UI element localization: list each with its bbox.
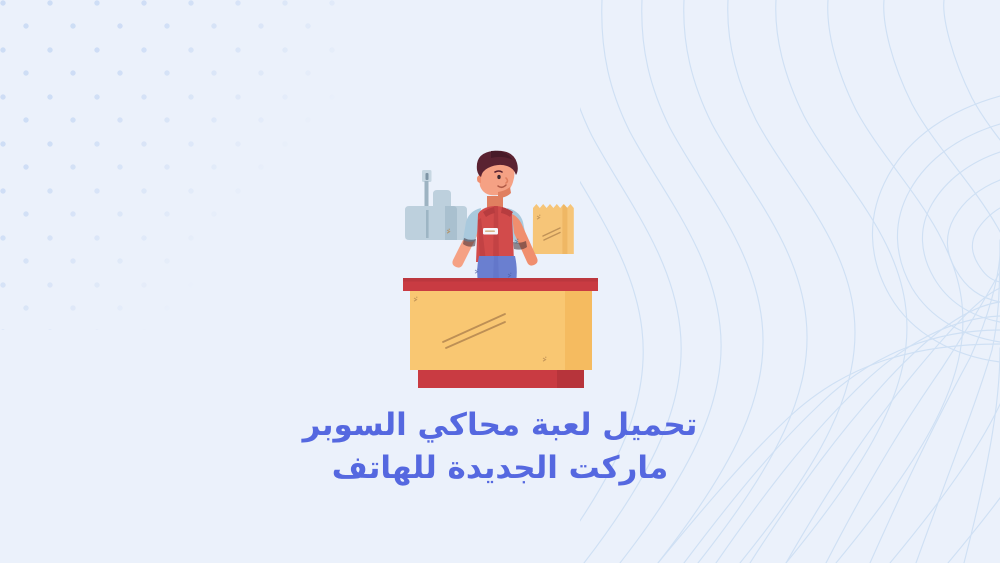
- page-title: تحميل لعبة محاكي السوبر ماركت الجديدة لل…: [0, 404, 1000, 490]
- page-title-line-1: تحميل لعبة محاكي السوبر: [0, 404, 1000, 447]
- poster-canvas: تحميل لعبة محاكي السوبر ماركت الجديدة لل…: [0, 0, 1000, 563]
- page-title-line-2: ماركت الجديدة للهاتف: [0, 447, 1000, 490]
- checkout-counter: [403, 278, 598, 388]
- cashier-illustration: [395, 148, 620, 398]
- cash-register-icon: [405, 170, 467, 240]
- dot-grid-pattern: [0, 0, 340, 330]
- paper-bag-icon: [533, 204, 574, 254]
